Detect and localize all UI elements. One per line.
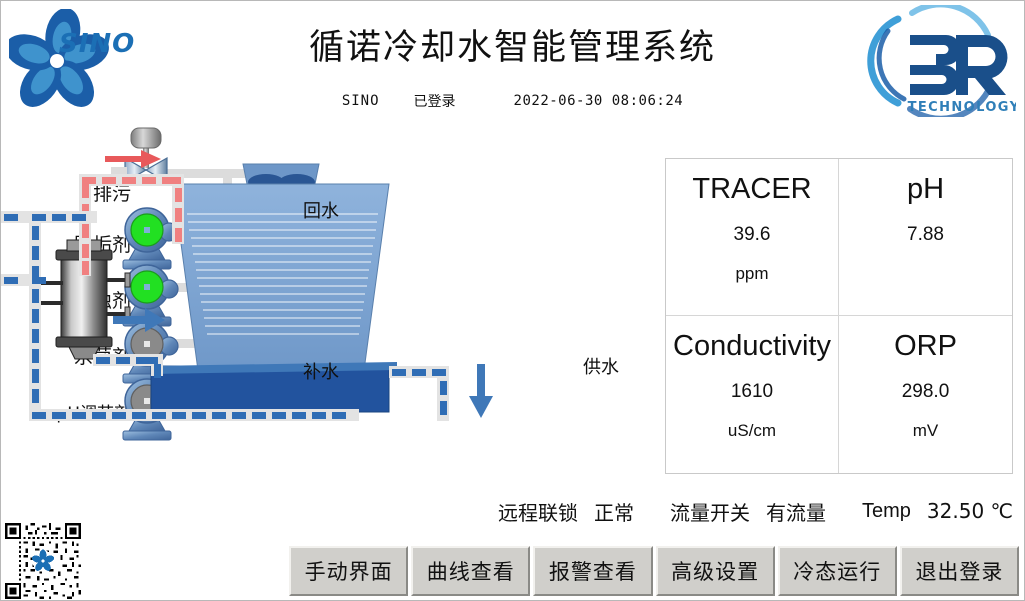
reading-tracer-value: 39.6 xyxy=(734,224,771,246)
remote-interlock-value: 正常 xyxy=(594,497,634,526)
supply-water-pipe xyxy=(389,364,493,421)
three-r-technology-logo: TECHNOLOGY xyxy=(860,5,1016,117)
remote-interlock-label: 远程联锁 xyxy=(498,497,578,526)
reading-conductivity-value: 1610 xyxy=(731,381,773,403)
status-row: 远程联锁 正常 流量开关 有流量 Temp 32.50 ℃ xyxy=(301,495,1013,527)
temp-label: Temp xyxy=(862,500,911,523)
header: SINO 循诺冷却水智能管理系统 SINO 已登录 2022-06-30 08:… xyxy=(1,1,1024,123)
reading-conductivity-name: Conductivity xyxy=(673,330,831,363)
reading-ph: pH 7.88 xyxy=(839,159,1012,316)
label-makeup-water: 补水 xyxy=(303,358,339,384)
alarm-view-button[interactable]: 报警查看 xyxy=(533,546,652,596)
blowdown-valve[interactable] xyxy=(111,128,167,182)
temp-value: 32.50 ℃ xyxy=(927,499,1013,523)
readings-panel: TRACER 39.6 ppm pH 7.88 Conductivity 161… xyxy=(665,158,1013,474)
manual-interface-button[interactable]: 手动界面 xyxy=(289,546,408,596)
flow-switch-label: 流量开关 xyxy=(670,497,750,526)
reading-ph-name: pH xyxy=(907,173,944,206)
qr-code xyxy=(5,523,81,599)
logout-button[interactable]: 退出登录 xyxy=(900,546,1019,596)
advanced-settings-button[interactable]: 高级设置 xyxy=(656,546,775,596)
reading-orp-unit: mV xyxy=(913,421,939,441)
reading-tracer-name: TRACER xyxy=(692,173,811,206)
flow-switch-value: 有流量 xyxy=(766,497,826,526)
cooling-tower xyxy=(151,164,397,412)
svg-text:TECHNOLOGY: TECHNOLOGY xyxy=(908,100,1016,115)
process-diagram xyxy=(1,126,671,481)
supply-flow-arrow xyxy=(469,364,493,418)
curve-view-button[interactable]: 曲线查看 xyxy=(411,546,530,596)
datetime: 2022-06-30 08:06:24 xyxy=(514,93,684,109)
cold-run-button[interactable]: 冷态运行 xyxy=(778,546,897,596)
reading-conductivity: Conductivity 1610 uS/cm xyxy=(666,316,839,473)
reading-ph-value: 7.88 xyxy=(907,224,944,246)
reading-tracer: TRACER 39.6 ppm xyxy=(666,159,839,316)
reading-orp-value: 298.0 xyxy=(902,381,950,403)
label-supply-water: 供水 xyxy=(583,353,619,379)
button-bar: 手动界面 曲线查看 报警查看 高级设置 冷态运行 退出登录 xyxy=(289,546,1019,596)
reading-tracer-unit: ppm xyxy=(735,264,768,284)
login-status: 已登录 xyxy=(414,91,456,111)
label-return-water: 回水 xyxy=(303,197,339,223)
scale-inhibitor-pump[interactable] xyxy=(123,208,178,269)
hmi-screen: SINO 循诺冷却水智能管理系统 SINO 已登录 2022-06-30 08:… xyxy=(0,0,1025,601)
reading-orp-name: ORP xyxy=(894,330,957,363)
reading-orp: ORP 298.0 mV xyxy=(839,316,1012,473)
reading-conductivity-unit: uS/cm xyxy=(728,421,776,441)
current-user: SINO xyxy=(342,93,380,109)
